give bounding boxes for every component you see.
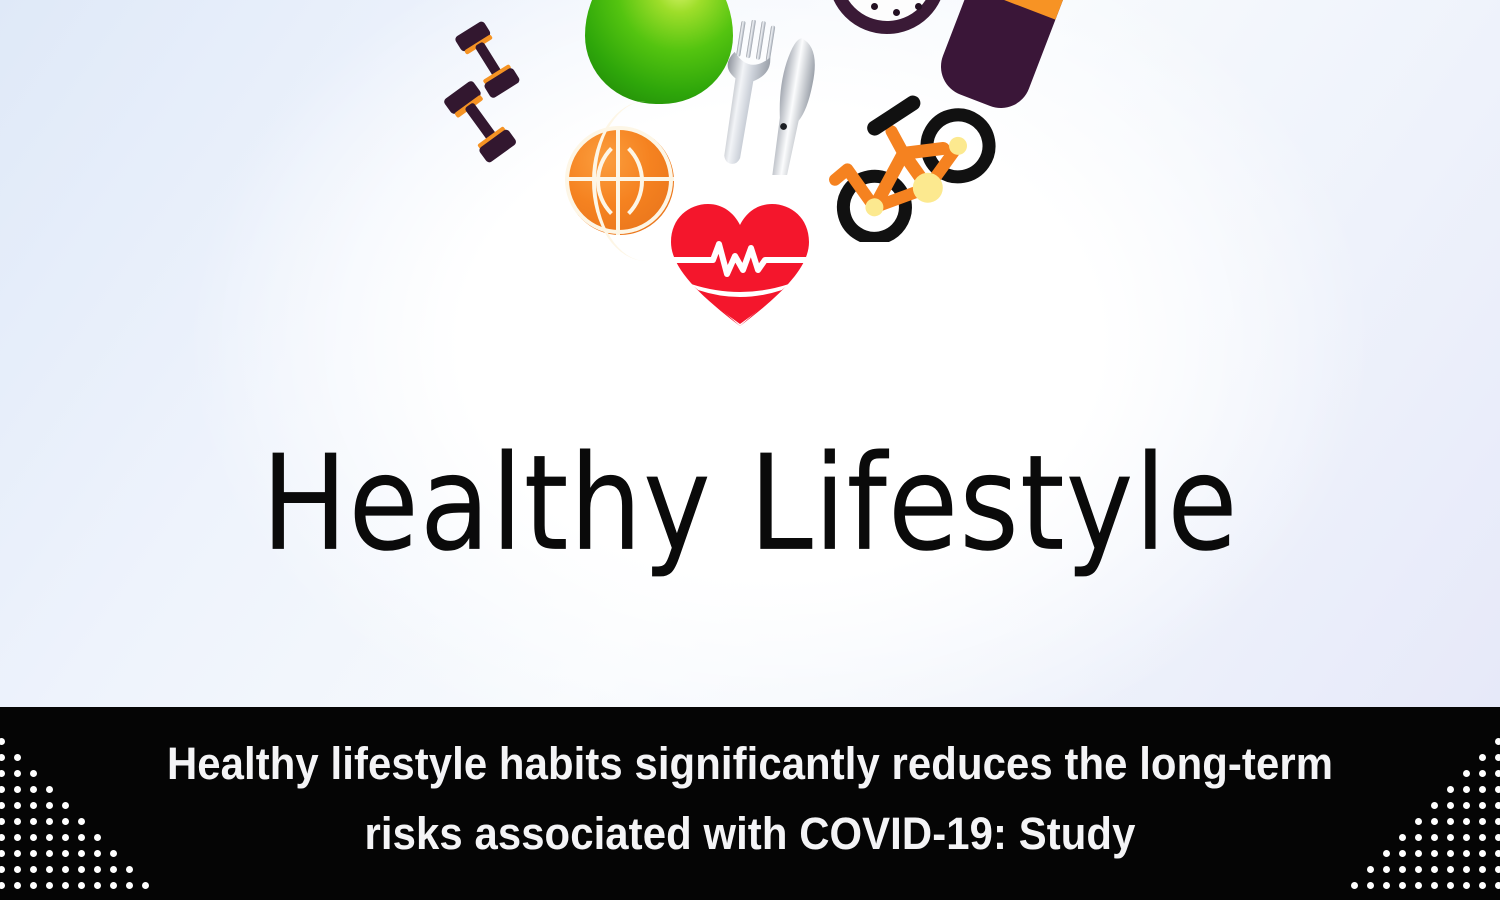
dot [1351, 882, 1358, 889]
dot [1463, 802, 1470, 809]
headline-line-1: Healthy lifestyle habits significantly r… [95, 729, 1404, 799]
fork-knife-icon [700, 20, 840, 175]
poster-canvas: Healthy Lifestyle Healthy lifestyle habi… [0, 0, 1500, 900]
dot [1479, 754, 1486, 761]
illustration-cluster [0, 0, 1500, 340]
dumbbell-icon [455, 8, 575, 138]
dot [62, 882, 69, 889]
dot [1415, 882, 1422, 889]
headline: Healthy lifestyle habits significantly r… [53, 729, 1448, 869]
dot [0, 834, 5, 841]
dot [30, 818, 37, 825]
dot [1479, 786, 1486, 793]
dot [0, 866, 5, 873]
dot [0, 818, 5, 825]
dot [14, 850, 21, 857]
dot [46, 882, 53, 889]
dot [30, 850, 37, 857]
dot [1447, 802, 1454, 809]
dot [14, 882, 21, 889]
dot [0, 882, 5, 889]
dot [30, 786, 37, 793]
dot [1463, 866, 1470, 873]
dot [30, 866, 37, 873]
dot [1463, 786, 1470, 793]
dot [1447, 834, 1454, 841]
dot [1463, 882, 1470, 889]
dot [1367, 882, 1374, 889]
dot [1495, 770, 1500, 777]
dot [1447, 850, 1454, 857]
basketball-icon [566, 127, 674, 235]
bicycle-icon [828, 92, 998, 242]
dot [1463, 818, 1470, 825]
dot [14, 866, 21, 873]
headline-line-2: risks associated with COVID-19: Study [95, 799, 1404, 869]
dot [30, 882, 37, 889]
dot [1447, 818, 1454, 825]
dot [1479, 866, 1486, 873]
dot [1463, 850, 1470, 857]
dot [14, 770, 21, 777]
dot [0, 738, 5, 745]
dot [1495, 882, 1500, 889]
dot [1479, 834, 1486, 841]
dot [1495, 786, 1500, 793]
dot [0, 786, 5, 793]
dot [14, 802, 21, 809]
dot [30, 834, 37, 841]
dot [1383, 882, 1390, 889]
page-title: Healthy Lifestyle [23, 408, 1478, 598]
dot [1463, 770, 1470, 777]
dot [0, 802, 5, 809]
dot [1479, 882, 1486, 889]
dot [14, 786, 21, 793]
dot [1447, 882, 1454, 889]
heart-ecg-icon [665, 200, 815, 330]
dot [1495, 802, 1500, 809]
dot [14, 834, 21, 841]
dot [78, 882, 85, 889]
dot [1399, 882, 1406, 889]
dot [110, 882, 117, 889]
dot [1447, 866, 1454, 873]
dot [1431, 882, 1438, 889]
dot [0, 754, 5, 761]
dot [30, 770, 37, 777]
dot [30, 802, 37, 809]
dot [1495, 738, 1500, 745]
clock-icon [828, 0, 946, 34]
dot [0, 850, 5, 857]
dot [142, 882, 149, 889]
dot [126, 882, 133, 889]
dot [1495, 866, 1500, 873]
dot [14, 754, 21, 761]
dot [1495, 754, 1500, 761]
dot [1495, 850, 1500, 857]
dot [1495, 818, 1500, 825]
caption-bar: Healthy lifestyle habits significantly r… [0, 707, 1500, 900]
dot [0, 770, 5, 777]
dot [1463, 834, 1470, 841]
dot [1495, 834, 1500, 841]
dot [1479, 850, 1486, 857]
dot [1479, 818, 1486, 825]
dot [94, 882, 101, 889]
dot [1479, 770, 1486, 777]
dot [1447, 786, 1454, 793]
dot [14, 818, 21, 825]
dot [1479, 802, 1486, 809]
